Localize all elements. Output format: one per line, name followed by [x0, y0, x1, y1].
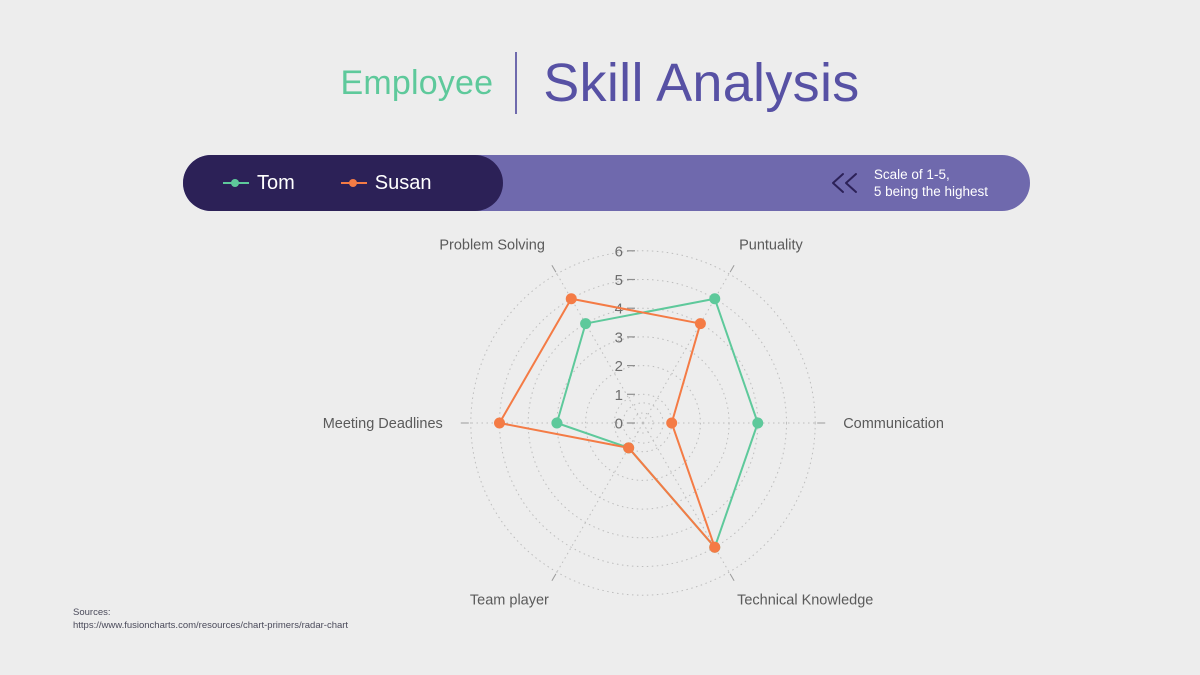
radial-tick-label: 3: [615, 329, 623, 346]
category-label: Meeting Deadlines: [323, 416, 443, 432]
radial-tick-label: 1: [615, 387, 623, 404]
sources-note: Sources: https://www.fusioncharts.com/re…: [73, 606, 348, 632]
axis-tick-stub: [552, 265, 556, 272]
category-label: Communication: [843, 416, 944, 432]
axis-tick-stub: [730, 265, 734, 272]
data-point[interactable]: [695, 318, 706, 329]
data-point[interactable]: [666, 418, 677, 429]
series-tom: [551, 293, 763, 553]
radar-chart: 0123456CommunicationPuntualityProblem So…: [0, 222, 1200, 622]
category-label: Puntuality: [739, 237, 803, 253]
axis-tick-stub: [552, 574, 556, 581]
double-chevron-left-icon: [830, 170, 860, 196]
scale-note-text: Scale of 1-5, 5 being the highest: [874, 166, 988, 200]
data-point[interactable]: [752, 418, 763, 429]
radial-tick-label: 2: [615, 358, 623, 375]
title-prefix: Employee: [340, 66, 515, 100]
data-point[interactable]: [709, 293, 720, 304]
legend-bar: Tom Susan Scale of 1-5, 5 being the high…: [183, 155, 1030, 211]
scale-note-group: Scale of 1-5, 5 being the highest: [830, 155, 988, 211]
line-dot-marker-icon: [223, 177, 249, 189]
data-point[interactable]: [494, 418, 505, 429]
data-point[interactable]: [551, 418, 562, 429]
data-point[interactable]: [566, 293, 577, 304]
radar-chart-canvas: 0123456CommunicationPuntualityProblem So…: [0, 222, 1200, 622]
line-dot-marker-icon: [341, 177, 367, 189]
radial-tick-label: 6: [615, 243, 623, 260]
legend-item-susan[interactable]: Susan: [341, 173, 432, 193]
data-point[interactable]: [580, 318, 591, 329]
data-point[interactable]: [709, 542, 720, 553]
category-label: Problem Solving: [439, 237, 545, 253]
category-label: Team player: [470, 593, 549, 609]
legend-label-susan: Susan: [375, 173, 432, 193]
data-point[interactable]: [623, 442, 634, 453]
radar-grid: [461, 251, 825, 595]
legend-series-group: Tom Susan: [183, 155, 503, 211]
category-label: Technical Knowledge: [737, 593, 873, 609]
legend-item-tom[interactable]: Tom: [223, 173, 295, 193]
title-main: Skill Analysis: [517, 56, 859, 110]
axis-tick-stub: [730, 574, 734, 581]
radial-tick-label: 0: [615, 416, 623, 433]
page-title: Employee Skill Analysis: [0, 52, 1200, 114]
radial-tick-labels: 0123456: [615, 243, 635, 432]
legend-label-tom: Tom: [257, 173, 295, 193]
radial-tick-label: 5: [615, 272, 623, 289]
